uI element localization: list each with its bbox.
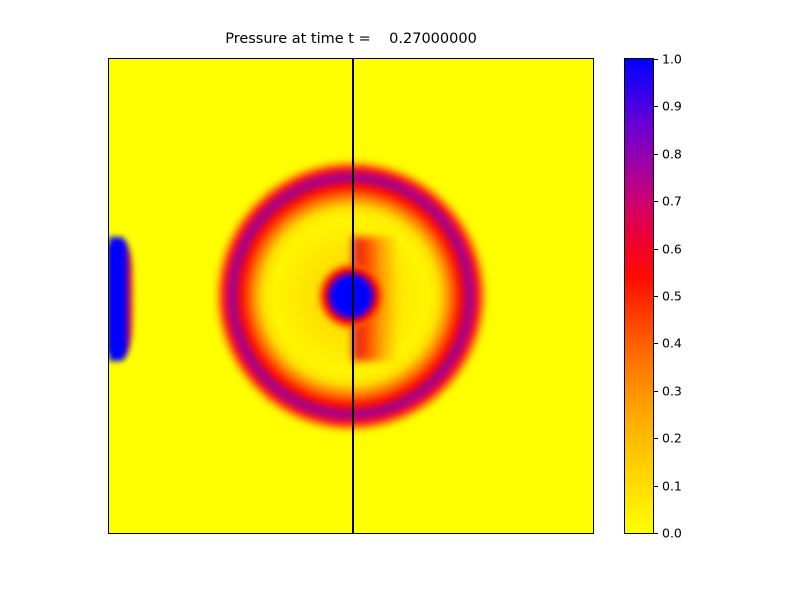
x-tick-mark bbox=[109, 533, 110, 534]
colorbar-tick-label: 0.8 bbox=[662, 146, 682, 161]
x-tick-mark bbox=[593, 533, 594, 534]
colorbar-tick-mark bbox=[653, 391, 658, 392]
colorbar-tick-label: 0.5 bbox=[662, 289, 682, 304]
colorbar-tick-mark bbox=[653, 438, 658, 439]
colorbar-tick-label: 0.6 bbox=[662, 241, 682, 256]
main-axes[interactable]: 1.0 0.5 0.0 -0.5 -1.0 -1.0 -0.5 0.0 0.5 … bbox=[108, 58, 594, 534]
colorbar-tick-label: 0.7 bbox=[662, 194, 682, 209]
colorbar-tick-label: 0.9 bbox=[662, 99, 682, 114]
x-tick-mark bbox=[351, 533, 352, 534]
colorbar-tick-label: 0.4 bbox=[662, 336, 682, 351]
y-tick-mark bbox=[108, 533, 109, 534]
y-tick-mark bbox=[108, 59, 109, 60]
pressure-field-heatmap bbox=[109, 59, 593, 533]
colorbar-tick-mark bbox=[653, 533, 658, 534]
colorbar[interactable]: 1.0 0.9 0.8 0.7 0.6 0.5 0.4 0.3 0.2 0.1 … bbox=[624, 58, 654, 534]
colorbar-tick-mark bbox=[653, 486, 658, 487]
colorbar-tick-mark bbox=[653, 201, 658, 202]
colorbar-tick-label: 0.3 bbox=[662, 383, 682, 398]
colorbar-tick-mark bbox=[653, 59, 658, 60]
x-tick-mark bbox=[472, 533, 473, 534]
plot-title: Pressure at time t = 0.27000000 bbox=[108, 31, 594, 47]
central-pressure-core bbox=[316, 261, 386, 331]
y-tick-mark bbox=[108, 178, 109, 179]
colorbar-tick-mark bbox=[653, 154, 658, 155]
colorbar-tick-mark bbox=[653, 106, 658, 107]
colorbar-tick-mark bbox=[653, 249, 658, 250]
colorbar-tick-label: 0.2 bbox=[662, 431, 682, 446]
colorbar-tick-label: 0.1 bbox=[662, 478, 682, 493]
figure-canvas: Pressure at time t = 0.27000000 1.0 0.5 … bbox=[0, 0, 800, 600]
colorbar-tick-label: 1.0 bbox=[662, 52, 682, 67]
x-tick-mark bbox=[230, 533, 231, 534]
y-tick-mark bbox=[108, 415, 109, 416]
y-tick-mark bbox=[108, 296, 109, 297]
colorbar-tick-mark bbox=[653, 296, 658, 297]
colorbar-tick-label: 0.0 bbox=[662, 526, 682, 541]
material-interface-line bbox=[352, 59, 354, 533]
colorbar-tick-mark bbox=[653, 343, 658, 344]
wall-reflected-wave-core bbox=[109, 245, 123, 353]
